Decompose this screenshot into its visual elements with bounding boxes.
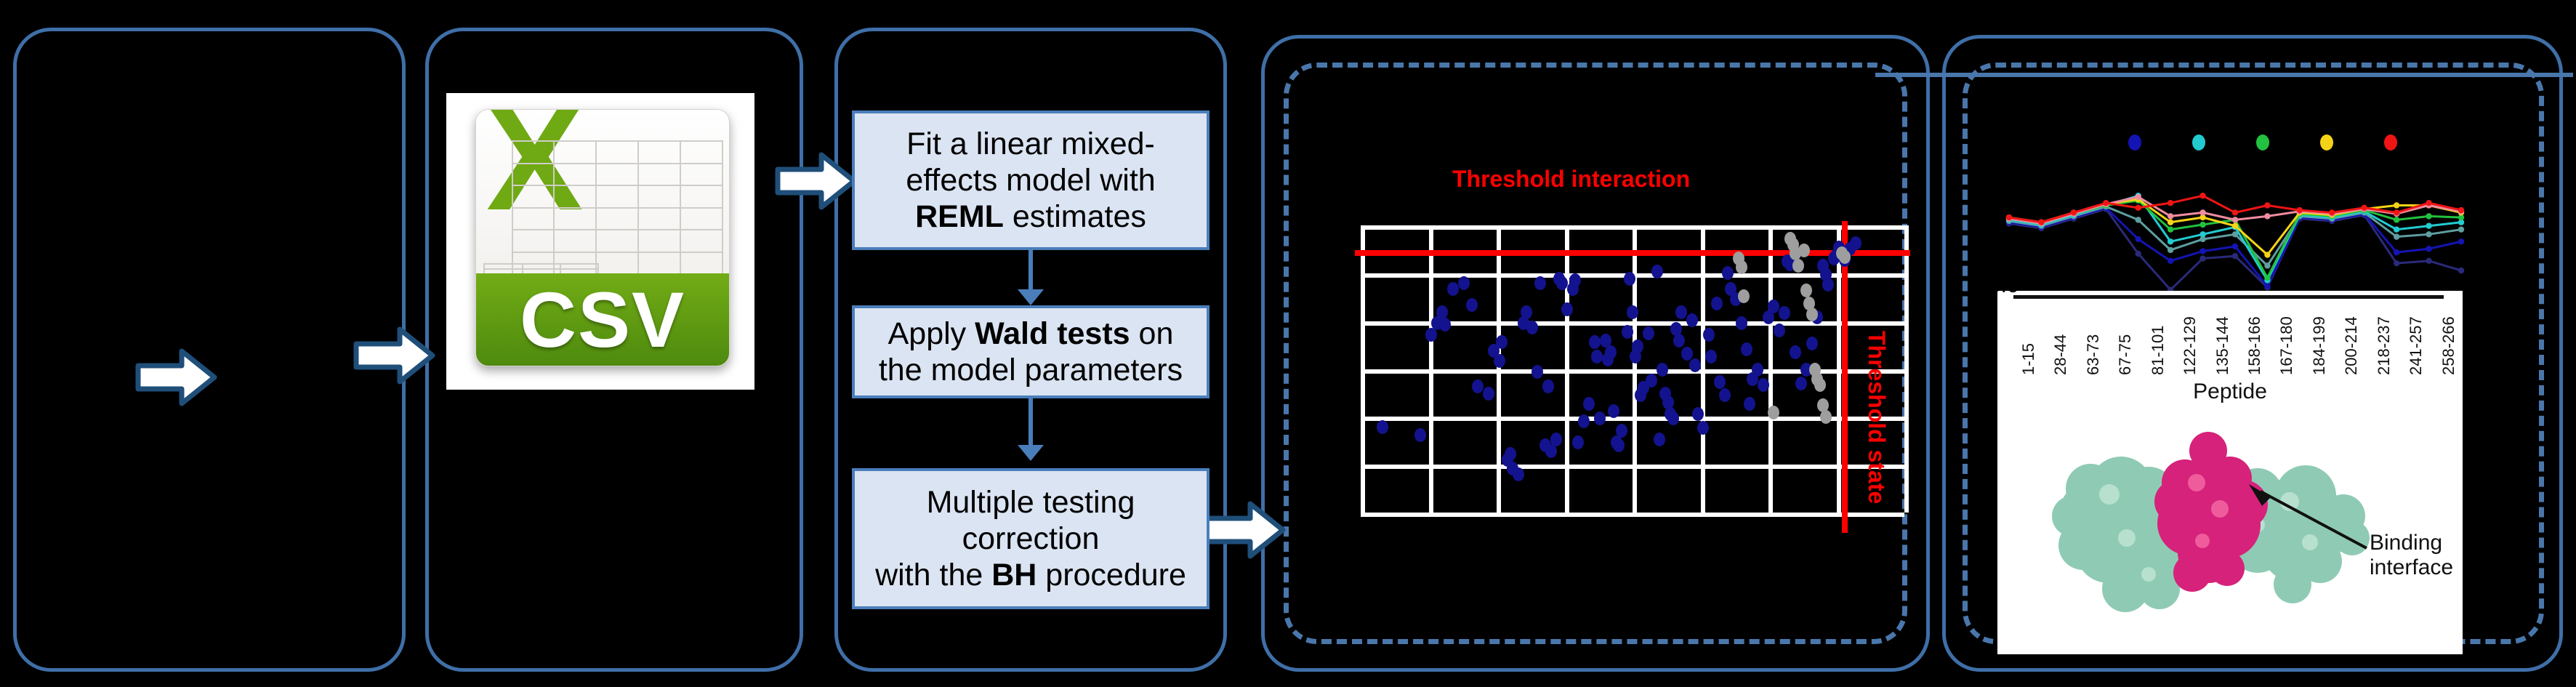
legend-dot xyxy=(2320,134,2333,150)
arrow-right-icon xyxy=(776,151,856,211)
scatter-plot: Threshold interaction Threshold state xyxy=(1352,145,1926,523)
scatter-point xyxy=(1505,447,1516,461)
mt-pre: with the xyxy=(875,558,991,592)
scatter-point xyxy=(1697,421,1709,435)
line-marker xyxy=(2394,260,2399,266)
flow-step-wald-tests-text: Apply Wald tests on the model parameters xyxy=(879,316,1183,389)
binding-interface-arrow xyxy=(2242,481,2372,554)
scatter-point xyxy=(1798,244,1810,257)
scatter-point xyxy=(1377,420,1388,434)
scatter-gridline-h xyxy=(1361,513,1904,517)
threshold-interaction-line xyxy=(1355,250,1910,256)
line-marker xyxy=(2199,248,2205,254)
scatter-point xyxy=(1561,302,1573,316)
scatter-point xyxy=(1744,397,1755,411)
scatter-point xyxy=(1703,328,1715,342)
csv-label-band: CSV xyxy=(476,273,729,366)
peptide-tick: 200-214 xyxy=(2342,316,2361,375)
scatter-point xyxy=(1513,467,1524,481)
line-marker xyxy=(2006,214,2012,220)
scatter-point xyxy=(1534,276,1546,290)
scatter-point xyxy=(1414,428,1426,442)
scatter-point xyxy=(1483,387,1494,401)
scatter-point xyxy=(1556,276,1568,290)
flow-step-fit-model-text: Fit a linear mixed- effects model with R… xyxy=(906,126,1155,236)
line-marker xyxy=(2264,202,2270,208)
flow-step-wald-tests[interactable]: Apply Wald tests on the model parameters xyxy=(852,305,1209,398)
threshold-state-line xyxy=(1842,221,1848,533)
line-marker xyxy=(2329,209,2335,215)
surface-blob xyxy=(2274,566,2311,603)
scatter-point xyxy=(1692,407,1704,421)
scatter-point xyxy=(1436,305,1448,319)
scatter-point xyxy=(1673,334,1685,347)
line-marker xyxy=(2199,222,2205,228)
line-marker xyxy=(2394,202,2399,208)
arrow-into-input xyxy=(137,347,217,407)
surface-blob xyxy=(2188,474,2205,491)
line-marker xyxy=(2394,249,2399,255)
line-marker xyxy=(2394,226,2399,232)
scatter-point xyxy=(1667,411,1679,425)
structure-figure-card: 1-1528-4463-7367-7581-101122-129135-1441… xyxy=(1997,291,2463,654)
scatter-point xyxy=(1736,260,1747,274)
scatter-point xyxy=(1705,350,1717,363)
scatter-point xyxy=(1681,347,1693,361)
scatter-point xyxy=(1850,236,1861,250)
scatter-point xyxy=(1616,424,1627,438)
line-marker xyxy=(2264,213,2270,219)
line-marker xyxy=(2103,200,2109,206)
surface-blob xyxy=(2210,551,2245,586)
scatter-point xyxy=(1806,337,1818,350)
line-marker xyxy=(2232,217,2238,222)
legend-dot xyxy=(2384,134,2397,150)
peptide-tick: 241-257 xyxy=(2407,316,2426,375)
scatter-point xyxy=(1425,328,1437,342)
threshold-interaction-label: Threshold interaction xyxy=(1452,166,1690,193)
line-marker xyxy=(2264,284,2270,289)
peptide-tick: 28-44 xyxy=(2051,334,2070,375)
line-marker xyxy=(2199,193,2205,198)
line-marker xyxy=(2168,200,2173,206)
scatter-point xyxy=(1542,379,1554,393)
binding-interface-annotation: Binding interface xyxy=(2370,531,2453,579)
scatter-point xyxy=(1646,374,1657,387)
line-marker xyxy=(2232,253,2238,259)
line-marker xyxy=(2362,205,2367,211)
line-marker xyxy=(2136,194,2141,200)
legend-dot xyxy=(2128,134,2141,150)
flow-step-fit-model[interactable]: Fit a linear mixed- effects model with R… xyxy=(852,111,1209,250)
peptide-tick: 135-144 xyxy=(2213,316,2232,375)
scatter-plot-area xyxy=(1361,225,1904,513)
surface-blob xyxy=(2195,534,2210,548)
scatter-gridline-h xyxy=(1361,465,1904,469)
scatter-point xyxy=(1494,354,1505,368)
surface-blob xyxy=(2211,500,2229,518)
flow-step-multiple-testing-text: Multiple testing correction with the BH … xyxy=(875,484,1186,594)
scatter-point xyxy=(1822,278,1834,292)
scatter-point xyxy=(1439,318,1451,332)
scatter-point xyxy=(1591,350,1603,363)
mt-line2: correction xyxy=(962,521,1100,556)
scatter-point xyxy=(1657,363,1668,377)
arrow-input-to-csv xyxy=(355,326,435,385)
y-axis-visible-tick: 0.0 xyxy=(1997,291,2019,298)
scatter-point xyxy=(1627,305,1638,319)
scatter-point xyxy=(1654,433,1665,446)
line-marker xyxy=(2168,220,2173,225)
mt-line1: Multiple testing xyxy=(927,485,1135,520)
line-marker xyxy=(2168,247,2173,253)
line-marker xyxy=(2394,233,2399,239)
flow-step-multiple-testing[interactable]: Multiple testing correction with the BH … xyxy=(852,468,1209,609)
binding-line2: interface xyxy=(2370,555,2453,579)
scatter-point xyxy=(1719,388,1731,402)
scatter-point xyxy=(1466,298,1478,312)
scatter-point xyxy=(1447,282,1459,296)
scatter-point xyxy=(1594,411,1606,425)
scatter-point xyxy=(1632,340,1643,353)
scatter-point xyxy=(1643,326,1654,340)
scatter-gridline-h xyxy=(1361,369,1904,374)
scatter-gridline-h xyxy=(1361,225,1904,230)
csv-grid-main xyxy=(512,140,722,273)
scatter-point xyxy=(1738,289,1750,303)
scatter-point xyxy=(1531,365,1543,379)
scatter-point xyxy=(1820,410,1832,424)
line-marker xyxy=(2168,238,2173,244)
scatter-point xyxy=(1578,414,1590,428)
surface-blob xyxy=(2052,496,2093,537)
mt-post: procedure xyxy=(1037,558,1186,592)
fit-reml: REML xyxy=(915,199,1004,234)
line-marker xyxy=(2458,238,2464,244)
arrow-right-icon xyxy=(355,326,435,385)
peptide-tick: 1-15 xyxy=(2019,343,2038,375)
scatter-point xyxy=(1608,404,1619,418)
line-marker xyxy=(2426,246,2431,252)
scatter-point xyxy=(1768,300,1779,313)
line-marker xyxy=(2168,226,2173,232)
scatter-point xyxy=(1583,397,1595,411)
line-marker xyxy=(2394,217,2399,222)
legend-dot xyxy=(2256,134,2269,150)
scatter-point xyxy=(1572,435,1584,449)
scatter-point xyxy=(1752,363,1763,377)
peptide-tick: 122-129 xyxy=(2181,316,2199,375)
wald-post: on xyxy=(1130,316,1174,351)
line-marker xyxy=(2168,213,2173,219)
line-marker xyxy=(2038,220,2044,225)
csv-label: CSV xyxy=(520,274,685,365)
scatter-point xyxy=(1779,306,1790,320)
scatter-point xyxy=(1736,316,1747,330)
surface-blob xyxy=(2189,432,2227,470)
peptide-tick: 218-237 xyxy=(2375,316,2394,375)
surface-blob xyxy=(2141,567,2156,582)
line-marker xyxy=(2071,209,2077,215)
line-marker xyxy=(2426,231,2431,237)
peptide-tick: 63-73 xyxy=(2084,334,2103,375)
fit-line3rest: estimates xyxy=(1004,199,1146,234)
panel-top-rule xyxy=(1875,73,2573,77)
threshold-state-label: Threshold state xyxy=(1863,331,1890,504)
arrow-pointer-icon xyxy=(2242,481,2372,554)
scatter-point xyxy=(1839,250,1851,264)
line-marker xyxy=(2458,268,2464,273)
line-marker xyxy=(2136,217,2141,222)
peptide-tick: 258-266 xyxy=(2439,316,2458,375)
scatter-point xyxy=(1741,342,1752,356)
scatter-gridline-v xyxy=(1904,225,1909,513)
line-marker xyxy=(2297,207,2303,213)
line-marker xyxy=(2426,223,2431,229)
peptide-tick: 158-166 xyxy=(2245,316,2264,375)
surface-blob xyxy=(2099,484,2120,505)
peptide-tick: 167-180 xyxy=(2277,316,2296,375)
line-marker xyxy=(2232,223,2238,229)
surface-blob xyxy=(2173,554,2211,592)
line-marker xyxy=(2264,275,2270,281)
arrow-csv-to-analysis xyxy=(776,151,856,211)
line-marker xyxy=(2136,236,2141,242)
scatter-point xyxy=(1675,305,1687,319)
scatter-point xyxy=(1800,284,1812,297)
scatter-point xyxy=(1521,305,1532,319)
scatter-point xyxy=(1758,378,1769,392)
line-marker xyxy=(2426,200,2431,206)
peptide-line-chart xyxy=(1999,160,2471,298)
line-marker xyxy=(2394,209,2399,215)
binding-line1: Binding xyxy=(2370,531,2442,555)
scatter-point xyxy=(1613,438,1625,452)
peptide-tick: 81-101 xyxy=(2149,325,2168,375)
scatter-point xyxy=(1814,378,1826,392)
line-marker xyxy=(2458,207,2464,213)
scatter-point xyxy=(1496,335,1508,349)
mt-bold: BH xyxy=(991,558,1037,592)
line-marker xyxy=(2136,251,2141,257)
line-marker xyxy=(2199,209,2205,215)
scatter-point xyxy=(1622,325,1633,339)
connector-2-3-tip xyxy=(1018,445,1044,461)
wald-bold: Wald tests xyxy=(975,316,1130,351)
peptide-line-chart-svg xyxy=(1999,160,2471,298)
line-marker xyxy=(2168,258,2173,264)
chart-axis-rule xyxy=(2013,295,2444,299)
fit-line1: Fit a linear mixed- xyxy=(906,126,1155,161)
peptide-axis-title: Peptide xyxy=(1997,379,2463,404)
csv-file-icon: X CSV xyxy=(475,109,730,366)
peptide-tick: 67-75 xyxy=(2116,334,2135,375)
legend-dot xyxy=(2192,134,2205,150)
line-marker xyxy=(2199,255,2205,261)
csv-grid-secondary xyxy=(483,263,597,273)
fit-line2: effects model with xyxy=(906,163,1155,198)
line-marker xyxy=(2264,252,2270,257)
scatter-point xyxy=(1589,335,1601,349)
scatter-point xyxy=(1795,377,1807,390)
scatter-point xyxy=(1792,259,1804,273)
line-marker xyxy=(2426,258,2431,264)
line-marker xyxy=(2264,262,2270,268)
scatter-point xyxy=(1711,297,1723,310)
peptide-tick: 184-199 xyxy=(2310,316,2329,375)
scatter-point xyxy=(1722,266,1734,280)
connector-1-2-tip xyxy=(1018,289,1044,305)
scatter-point xyxy=(1472,379,1484,393)
surface-blob xyxy=(2118,529,2136,547)
csv-image-card: X CSV xyxy=(446,93,754,390)
scatter-point xyxy=(1526,321,1538,334)
scatter-point xyxy=(1714,375,1726,389)
line-marker xyxy=(2136,205,2141,211)
arrow-analysis-to-scatter xyxy=(1205,500,1285,560)
line-marker xyxy=(2232,209,2238,215)
wald-line2: the model parameters xyxy=(879,353,1183,387)
connector-2-3 xyxy=(1029,398,1033,448)
arrow-right-icon xyxy=(137,347,217,407)
scatter-point xyxy=(1651,265,1663,278)
scatter-point xyxy=(1689,358,1701,372)
scatter-point xyxy=(1790,345,1801,359)
line-marker xyxy=(2458,226,2464,232)
scatter-point xyxy=(1774,324,1785,337)
line-marker xyxy=(2199,231,2205,237)
arrow-right-icon xyxy=(1205,500,1285,560)
connector-1-2 xyxy=(1029,250,1033,292)
line-series xyxy=(2009,196,2461,280)
peptide-tick-labels: 1-1528-4463-7367-7581-101122-129135-1441… xyxy=(1997,300,2463,379)
scatter-point xyxy=(1550,433,1562,446)
scatter-point xyxy=(1458,276,1470,290)
scatter-point xyxy=(1569,273,1581,287)
scatter-point xyxy=(1605,345,1617,359)
line-marker xyxy=(2232,244,2238,249)
wald-pre: Apply xyxy=(888,316,975,351)
line-marker xyxy=(2426,213,2431,219)
